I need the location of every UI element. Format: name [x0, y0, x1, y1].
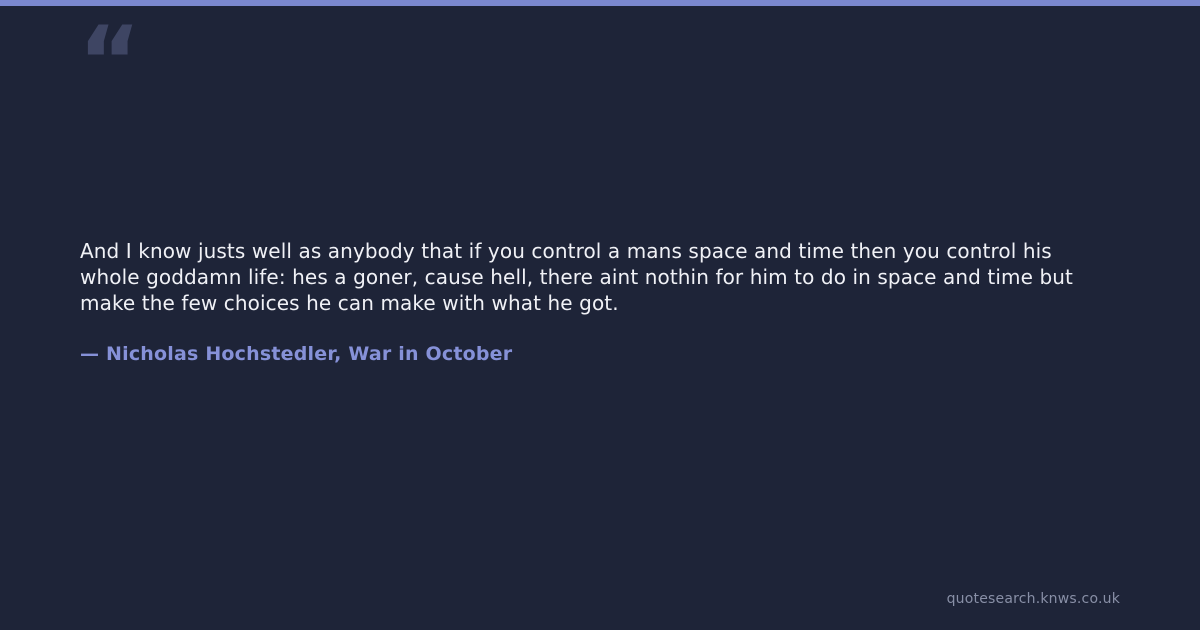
quote-attribution: — Nicholas Hochstedler, War in October — [80, 341, 512, 367]
opening-double-quote-icon: “ — [78, 14, 139, 110]
quote-body: And I know justs well as anybody that if… — [80, 238, 1110, 316]
quote-card: “ And I know justs well as anybody that … — [0, 0, 1200, 630]
quote-text: And I know justs well as anybody that if… — [80, 238, 1110, 316]
site-url-footer: quotesearch.knws.co.uk — [947, 590, 1120, 608]
top-accent-bar — [0, 0, 1200, 6]
